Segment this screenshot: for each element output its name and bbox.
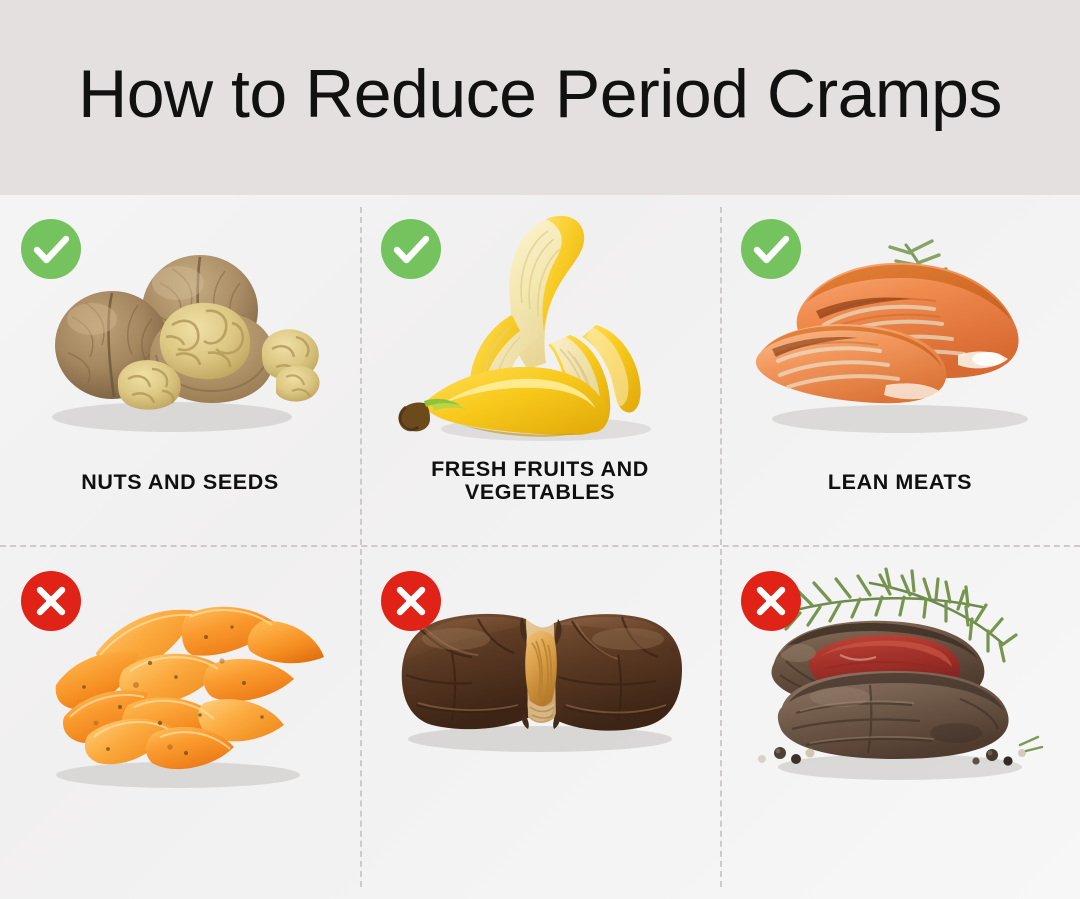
cell-label-nuts-and-seeds: NUTS AND SEEDS bbox=[10, 471, 350, 494]
grid-cell-high-fructose-corn-syrup: HIGH FRUCTOSE CORN SYRUP bbox=[360, 547, 720, 899]
cell-label-line: NUTS AND SEEDS bbox=[10, 471, 350, 494]
cell-label-lean-meats: LEAN MEATS bbox=[730, 471, 1070, 494]
cell-label-fresh-fruits-and-vegetables: FRESH FRUITS AND VEGETABLES bbox=[370, 458, 710, 504]
cross-icon bbox=[741, 571, 801, 631]
grid-cell-fresh-fruits-and-vegetables: FRESH FRUITS AND VEGETABLES bbox=[360, 195, 720, 547]
cross-icon bbox=[21, 571, 81, 631]
check-icon bbox=[21, 219, 81, 279]
cross-icon bbox=[381, 571, 441, 631]
grid-cell-nuts-and-seeds: NUTS AND SEEDS bbox=[0, 195, 360, 547]
check-icon bbox=[381, 219, 441, 279]
cell-label-line: VEGETABLES bbox=[370, 481, 710, 504]
header-band: How to Reduce Period Cramps bbox=[0, 0, 1080, 195]
page-title: How to Reduce Period Cramps bbox=[78, 60, 1002, 128]
infographic-root: How to Reduce Period Cramps bbox=[0, 0, 1080, 899]
check-icon bbox=[741, 219, 801, 279]
cell-label-line: FRESH FRUITS AND bbox=[370, 458, 710, 481]
food-grid: NUTS AND SEEDS bbox=[0, 195, 1080, 899]
grid-cell-highly-processed-foods: HIGHLY PROCESSED FOODS bbox=[0, 547, 360, 899]
grid-cell-red-meat: RED MEAT bbox=[720, 547, 1080, 899]
grid-cell-lean-meats: LEAN MEATS bbox=[720, 195, 1080, 547]
cell-label-line: LEAN MEATS bbox=[730, 471, 1070, 494]
